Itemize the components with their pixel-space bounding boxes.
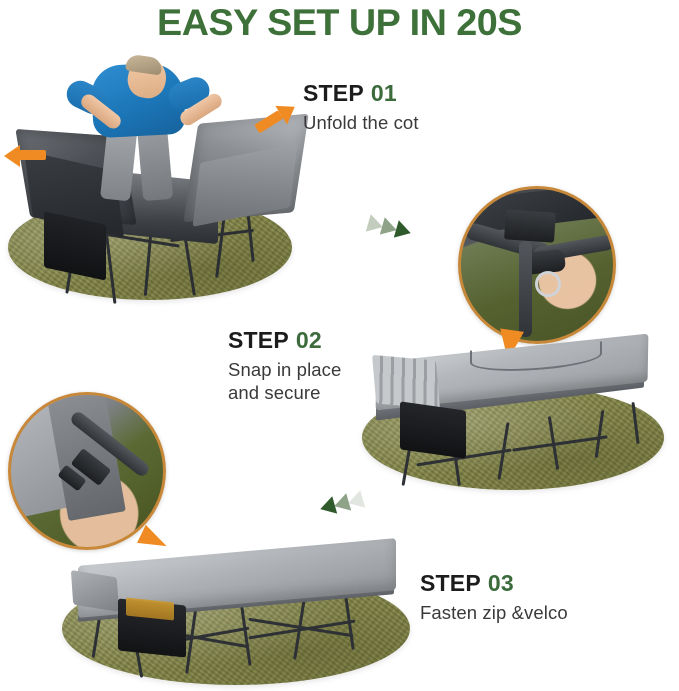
cot-side-pocket xyxy=(400,401,466,458)
step-3-label: STEP xyxy=(420,570,481,596)
step-2-heading: STEP02 xyxy=(228,327,341,354)
inset-detail-hands-fastening-zipper xyxy=(8,392,166,550)
step-2-description: Snap in place and secure xyxy=(228,359,341,404)
step-3-text-block: STEP03 Fasten zip &velco xyxy=(420,570,568,625)
step-1-description: Unfold the cot xyxy=(303,112,419,135)
step-1-label: STEP xyxy=(303,80,364,106)
arrow-left-icon xyxy=(4,142,50,168)
photo-step3-cot-fully-assembled xyxy=(62,540,414,680)
inset-detail-hand-pulling-locking-pin xyxy=(458,186,616,344)
step-2-text-block: STEP02 Snap in place and secure xyxy=(228,327,341,404)
step-2-label: STEP xyxy=(228,327,289,353)
infographic-canvas: EASY SET UP IN 20S xyxy=(0,0,679,691)
cot-side-pocket xyxy=(44,211,106,280)
page-title: EASY SET UP IN 20S xyxy=(0,2,679,44)
step-1-heading: STEP01 xyxy=(303,80,419,107)
photo-step2-cot-partially-assembled xyxy=(362,330,674,480)
step-3-heading: STEP03 xyxy=(420,570,568,597)
step-3-description: Fasten zip &velco xyxy=(420,602,568,625)
step-1-text-block: STEP01 Unfold the cot xyxy=(303,80,419,135)
step-2-number: 02 xyxy=(296,327,322,353)
chevrons-left-down-icon xyxy=(320,488,380,520)
step-1-number: 01 xyxy=(371,80,397,106)
photo-step1-unfolding-cot xyxy=(0,58,300,303)
cot-folded-end-panel xyxy=(372,355,440,409)
step-3-number: 03 xyxy=(488,570,514,596)
chevrons-right-down-icon xyxy=(368,212,428,244)
